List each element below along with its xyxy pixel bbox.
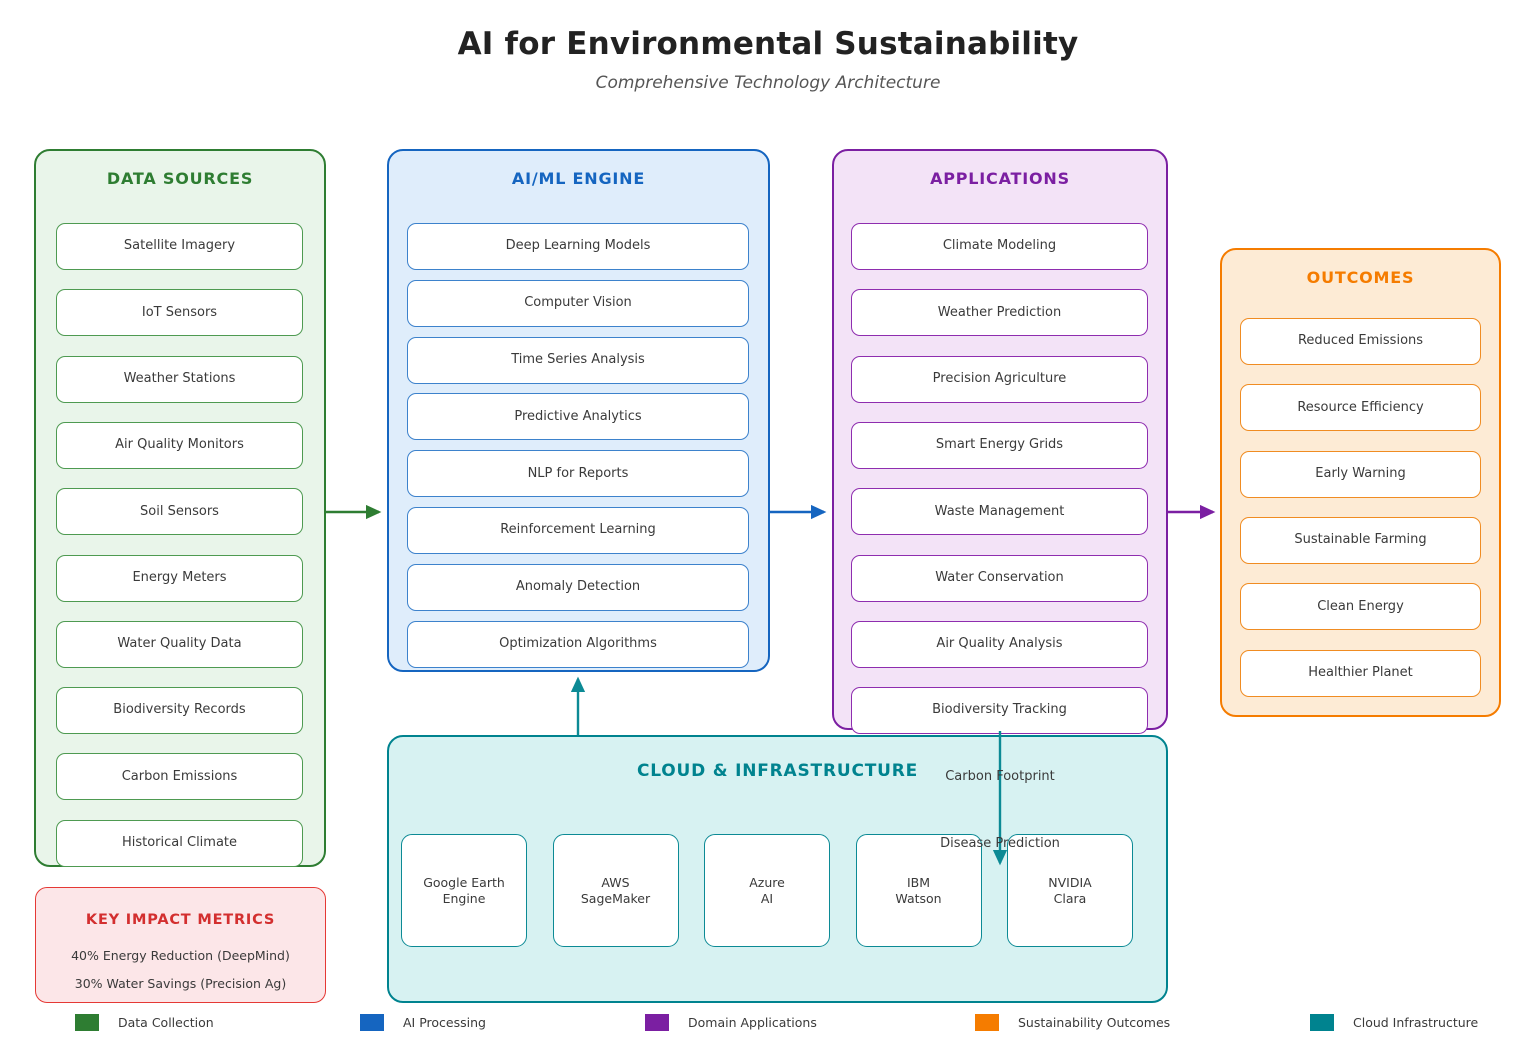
node-label: Deep Learning Models — [506, 238, 651, 254]
flow-label-carbon-footprint: Carbon Footprint — [945, 769, 1055, 784]
node-label: NVIDIAClara — [1048, 875, 1091, 906]
node-label: Healthier Planet — [1308, 665, 1413, 681]
metrics-title: KEY IMPACT METRICS — [36, 912, 325, 928]
node-label: Climate Modeling — [943, 238, 1056, 254]
node-ai-model-nlp-for-reports[interactable]: NLP for Reports — [407, 450, 749, 497]
node-label: Air Quality Monitors — [115, 437, 244, 453]
legend-item-cloud-infrastructure[interactable]: Cloud Infrastructure — [1310, 1014, 1478, 1031]
node-label: Water Conservation — [935, 570, 1064, 586]
node-ai-model-reinforcement-learning[interactable]: Reinforcement Learning — [407, 507, 749, 554]
node-ai-model-predictive-analytics[interactable]: Predictive Analytics — [407, 393, 749, 440]
node-label: Precision Agriculture — [933, 371, 1067, 387]
panel-title-ai-engine: AI/ML ENGINE — [389, 169, 768, 188]
node-label: Historical Climate — [122, 835, 237, 851]
legend-item-data-collection[interactable]: Data Collection — [75, 1014, 214, 1031]
node-label: Biodiversity Tracking — [932, 702, 1067, 718]
node-label: Reduced Emissions — [1298, 333, 1423, 349]
node-data-source-water-quality-data[interactable]: Water Quality Data — [56, 621, 303, 668]
node-data-source-carbon-emissions[interactable]: Carbon Emissions — [56, 753, 303, 800]
node-ai-model-optimization-algorithms[interactable]: Optimization Algorithms — [407, 621, 749, 668]
node-ai-model-deep-learning-models[interactable]: Deep Learning Models — [407, 223, 749, 270]
node-outcome-sustainable-farming[interactable]: Sustainable Farming — [1240, 517, 1481, 564]
node-label: Weather Stations — [124, 371, 236, 387]
panel-key-impact-metrics: KEY IMPACT METRICS 40% Energy Reduction … — [35, 887, 326, 1003]
node-label: Computer Vision — [524, 295, 632, 311]
node-application-smart-energy-grids[interactable]: Smart Energy Grids — [851, 422, 1148, 469]
node-label: IoT Sensors — [142, 305, 217, 321]
node-label: Time Series Analysis — [511, 352, 645, 368]
node-label: Predictive Analytics — [514, 409, 641, 425]
node-data-source-historical-climate[interactable]: Historical Climate — [56, 820, 303, 867]
page-title: AI for Environmental Sustainability — [0, 26, 1536, 62]
node-label: Sustainable Farming — [1294, 532, 1426, 548]
node-application-climate-modeling[interactable]: Climate Modeling — [851, 223, 1148, 270]
node-ai-model-anomaly-detection[interactable]: Anomaly Detection — [407, 564, 749, 611]
node-label: AWSSageMaker — [581, 875, 650, 906]
node-label: Weather Prediction — [938, 305, 1061, 321]
node-label: Satellite Imagery — [124, 238, 235, 254]
node-data-source-weather-stations[interactable]: Weather Stations — [56, 356, 303, 403]
node-data-source-biodiversity-records[interactable]: Biodiversity Records — [56, 687, 303, 734]
node-cloud-platform-aws-sagemaker[interactable]: AWSSageMaker — [553, 834, 679, 947]
node-label: Anomaly Detection — [516, 579, 640, 595]
node-label: Early Warning — [1315, 466, 1405, 482]
node-outcome-reduced-emissions[interactable]: Reduced Emissions — [1240, 318, 1481, 365]
node-data-source-energy-meters[interactable]: Energy Meters — [56, 555, 303, 602]
panel-title-applications: APPLICATIONS — [834, 169, 1166, 188]
node-label: Resource Efficiency — [1297, 400, 1423, 416]
node-data-source-air-quality-monitors[interactable]: Air Quality Monitors — [56, 422, 303, 469]
node-application-waste-management[interactable]: Waste Management — [851, 488, 1148, 535]
node-label: Reinforcement Learning — [500, 522, 656, 538]
legend-label: Data Collection — [118, 1015, 214, 1030]
legend-item-domain-applications[interactable]: Domain Applications — [645, 1014, 817, 1031]
node-ai-model-time-series-analysis[interactable]: Time Series Analysis — [407, 337, 749, 384]
node-application-water-conservation[interactable]: Water Conservation — [851, 555, 1148, 602]
node-data-source-iot-sensors[interactable]: IoT Sensors — [56, 289, 303, 336]
node-application-weather-prediction[interactable]: Weather Prediction — [851, 289, 1148, 336]
node-label: Optimization Algorithms — [499, 636, 657, 652]
legend-swatch-icon — [975, 1014, 999, 1031]
node-label: Biodiversity Records — [113, 702, 245, 718]
metric-line: 30% Water Savings (Precision Ag) — [36, 976, 325, 991]
node-label: Energy Meters — [132, 570, 226, 586]
node-label: Air Quality Analysis — [936, 636, 1062, 652]
node-outcome-healthier-planet[interactable]: Healthier Planet — [1240, 650, 1481, 697]
legend-swatch-icon — [1310, 1014, 1334, 1031]
node-label: Water Quality Data — [117, 636, 241, 652]
node-application-precision-agriculture[interactable]: Precision Agriculture — [851, 356, 1148, 403]
node-label: IBMWatson — [895, 875, 941, 906]
page-subtitle: Comprehensive Technology Architecture — [0, 73, 1536, 93]
node-label: Carbon Emissions — [122, 769, 238, 785]
legend-swatch-icon — [360, 1014, 384, 1031]
node-application-biodiversity-tracking[interactable]: Biodiversity Tracking — [851, 687, 1148, 734]
panel-title-outcomes: OUTCOMES — [1222, 268, 1499, 287]
node-label: Google EarthEngine — [423, 875, 505, 906]
node-label: Soil Sensors — [140, 504, 219, 520]
metric-line: 40% Energy Reduction (DeepMind) — [36, 948, 325, 963]
node-label: Waste Management — [935, 504, 1065, 520]
node-ai-model-computer-vision[interactable]: Computer Vision — [407, 280, 749, 327]
legend-item-sustainability-outcomes[interactable]: Sustainability Outcomes — [975, 1014, 1170, 1031]
node-label: Smart Energy Grids — [936, 437, 1063, 453]
legend-swatch-icon — [645, 1014, 669, 1031]
node-label: NLP for Reports — [528, 466, 629, 482]
node-data-source-soil-sensors[interactable]: Soil Sensors — [56, 488, 303, 535]
node-outcome-early-warning[interactable]: Early Warning — [1240, 451, 1481, 498]
legend-swatch-icon — [75, 1014, 99, 1031]
node-application-air-quality-analysis[interactable]: Air Quality Analysis — [851, 621, 1148, 668]
node-outcome-resource-efficiency[interactable]: Resource Efficiency — [1240, 384, 1481, 431]
node-cloud-platform-azure-ai[interactable]: AzureAI — [704, 834, 830, 947]
legend-label: AI Processing — [403, 1015, 486, 1030]
node-cloud-platform-google-earth-engine[interactable]: Google EarthEngine — [401, 834, 527, 947]
legend-label: Sustainability Outcomes — [1018, 1015, 1170, 1030]
flow-label-disease-prediction: Disease Prediction — [940, 836, 1060, 851]
legend-label: Cloud Infrastructure — [1353, 1015, 1478, 1030]
node-outcome-clean-energy[interactable]: Clean Energy — [1240, 583, 1481, 630]
node-label: AzureAI — [749, 875, 785, 906]
panel-title-data-sources: DATA SOURCES — [36, 169, 324, 188]
legend-label: Domain Applications — [688, 1015, 817, 1030]
node-label: Clean Energy — [1317, 599, 1404, 615]
diagram-canvas: AI for Environmental Sustainability Comp… — [0, 0, 1536, 1062]
node-data-source-satellite-imagery[interactable]: Satellite Imagery — [56, 223, 303, 270]
legend-item-ai-processing[interactable]: AI Processing — [360, 1014, 486, 1031]
